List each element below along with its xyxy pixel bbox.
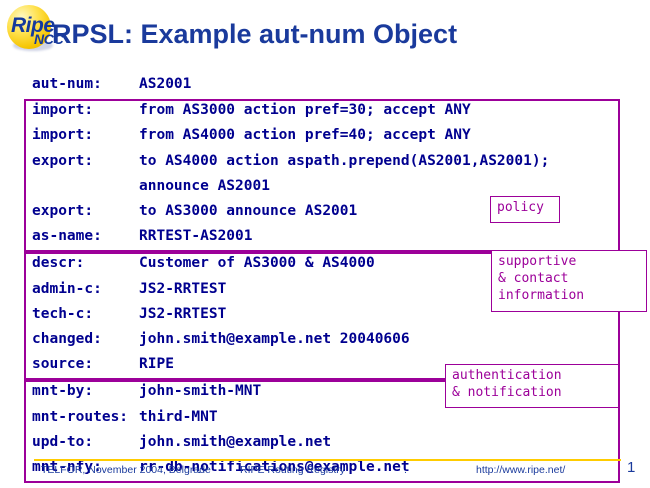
attribute-line-policy-3: announce AS2001	[32, 178, 270, 194]
attribute-line-policy-0: import:from AS3000 action pref=30; accep…	[32, 102, 471, 118]
attribute-value: JS2-RRTEST	[139, 281, 226, 297]
attribute-key: export:	[32, 153, 139, 169]
attribute-line-supportive-1: admin-c:JS2-RRTEST	[32, 281, 226, 297]
attribute-key: aut-num:	[32, 76, 139, 92]
attribute-key: changed:	[32, 331, 139, 347]
page-number: 1	[627, 459, 635, 476]
attribute-key: descr:	[32, 255, 139, 271]
footer-separator-1: .	[198, 464, 201, 476]
attribute-key: source:	[32, 356, 139, 372]
attribute-value: JS2-RRTEST	[139, 306, 226, 322]
attribute-line-supportive-2: tech-c:JS2-RRTEST	[32, 306, 226, 322]
footer-subject: RIPE Routing Registry	[240, 464, 345, 476]
attribute-value: to AS4000 action aspath.prepend(AS2001,A…	[139, 153, 549, 169]
attribute-value: announce AS2001	[139, 178, 270, 194]
attribute-key: tech-c:	[32, 306, 139, 322]
attribute-value: john.smith@example.net	[139, 434, 331, 450]
page-title: RPSL: Example aut-num Object	[52, 19, 457, 50]
attribute-key: upd-to:	[32, 434, 139, 450]
attribute-line-policy-4: export:to AS3000 announce AS2001	[32, 203, 357, 219]
attribute-value: third-MNT	[139, 409, 218, 425]
attribute-key: admin-c:	[32, 281, 139, 297]
attribute-line-policy-2: export:to AS4000 action aspath.prepend(A…	[32, 153, 549, 169]
attribute-line-authentication-1: mnt-routes:third-MNT	[32, 409, 218, 425]
attribute-value: RIPE	[139, 356, 174, 372]
attribute-value: john.smith@example.net 20040606	[139, 331, 410, 347]
attribute-key: import:	[32, 102, 139, 118]
attribute-key: as-name:	[32, 228, 139, 244]
attribute-key: mnt-routes:	[32, 409, 139, 425]
attribute-line-supportive-0: descr:Customer of AS3000 & AS4000	[32, 255, 375, 271]
attribute-line-policy-5: as-name:RRTEST-AS2001	[32, 228, 253, 244]
footer-divider	[34, 459, 621, 461]
attribute-line-authentication-0: mnt-by:john-smith-MNT	[32, 383, 261, 399]
footer-url: http://www.ripe.net/	[476, 464, 565, 476]
annotation-authentication-notification: authentication & notification	[445, 364, 619, 408]
attribute-key: import:	[32, 127, 139, 143]
attribute-value: john-smith-MNT	[139, 383, 261, 399]
attribute-line-authentication-2: upd-to:john.smith@example.net	[32, 434, 331, 450]
footer-event: TELFOR, November 2004, Belgrade	[41, 464, 211, 476]
aut-num-header-line: aut-num:AS2001	[32, 76, 191, 92]
attribute-key: export:	[32, 203, 139, 219]
attribute-value: RRTEST-AS2001	[139, 228, 253, 244]
annotation-policy: policy	[490, 196, 560, 223]
annotation-supportive-contact: supportive & contact information	[491, 250, 647, 312]
attribute-value: from AS3000 action pref=30; accept ANY	[139, 102, 471, 118]
attribute-line-policy-1: import:from AS4000 action pref=40; accep…	[32, 127, 471, 143]
attribute-line-supportive-4: source:RIPE	[32, 356, 174, 372]
attribute-value: to AS3000 announce AS2001	[139, 203, 357, 219]
attribute-key: mnt-by:	[32, 383, 139, 399]
attribute-value: Customer of AS3000 & AS4000	[139, 255, 375, 271]
footer-separator-2: .	[404, 464, 407, 476]
attribute-value: from AS4000 action pref=40; accept ANY	[139, 127, 471, 143]
attribute-line-supportive-3: changed:john.smith@example.net 20040606	[32, 331, 410, 347]
attribute-value: AS2001	[139, 76, 191, 92]
